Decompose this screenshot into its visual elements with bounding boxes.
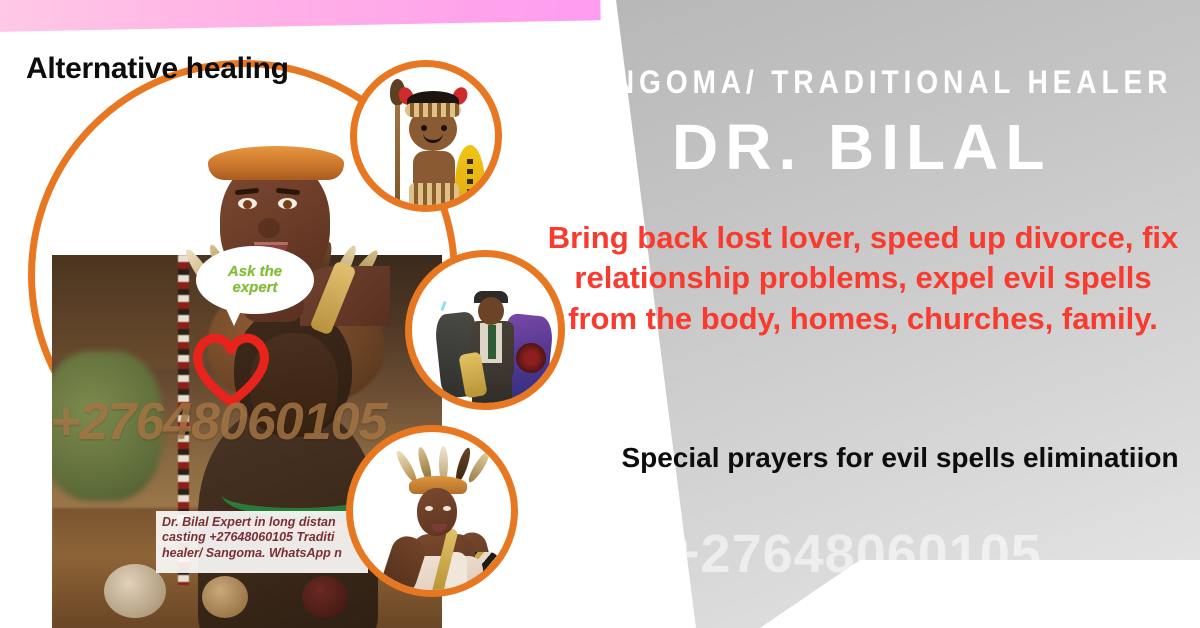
phone-watermark: +27648060105 xyxy=(668,523,1042,585)
photo-caption-text: Dr. Bilal Expert in long distan casting … xyxy=(162,515,362,561)
photo-caption-box: Dr. Bilal Expert in long distan casting … xyxy=(156,511,368,573)
poster-canvas: Alternative healing xyxy=(0,0,1200,628)
kicker-text: SANGOMA/ TRADITIONAL HEALER xyxy=(565,64,1111,101)
speech-bubble-text: Ask the expert xyxy=(206,264,304,296)
special-prayers-text: Special prayers for evil spells eliminat… xyxy=(620,440,1180,476)
circle-bubble-crouching-healer xyxy=(346,425,518,597)
cloaked-healer-icon xyxy=(412,257,558,403)
zulu-warrior-icon xyxy=(357,67,495,205)
crouching-healer-icon xyxy=(353,432,511,590)
page-title: Alternative healing xyxy=(26,52,289,86)
photo-phone-watermark: +27648060105 xyxy=(50,392,387,452)
doctor-name-title: DR. BILAL xyxy=(672,110,1051,184)
speech-bubble: Ask the expert xyxy=(196,246,314,314)
top-bar-pink xyxy=(0,0,601,32)
circle-bubble-zulu-warrior xyxy=(350,60,502,212)
services-text: Bring back lost lover, speed up divorce,… xyxy=(538,218,1188,339)
